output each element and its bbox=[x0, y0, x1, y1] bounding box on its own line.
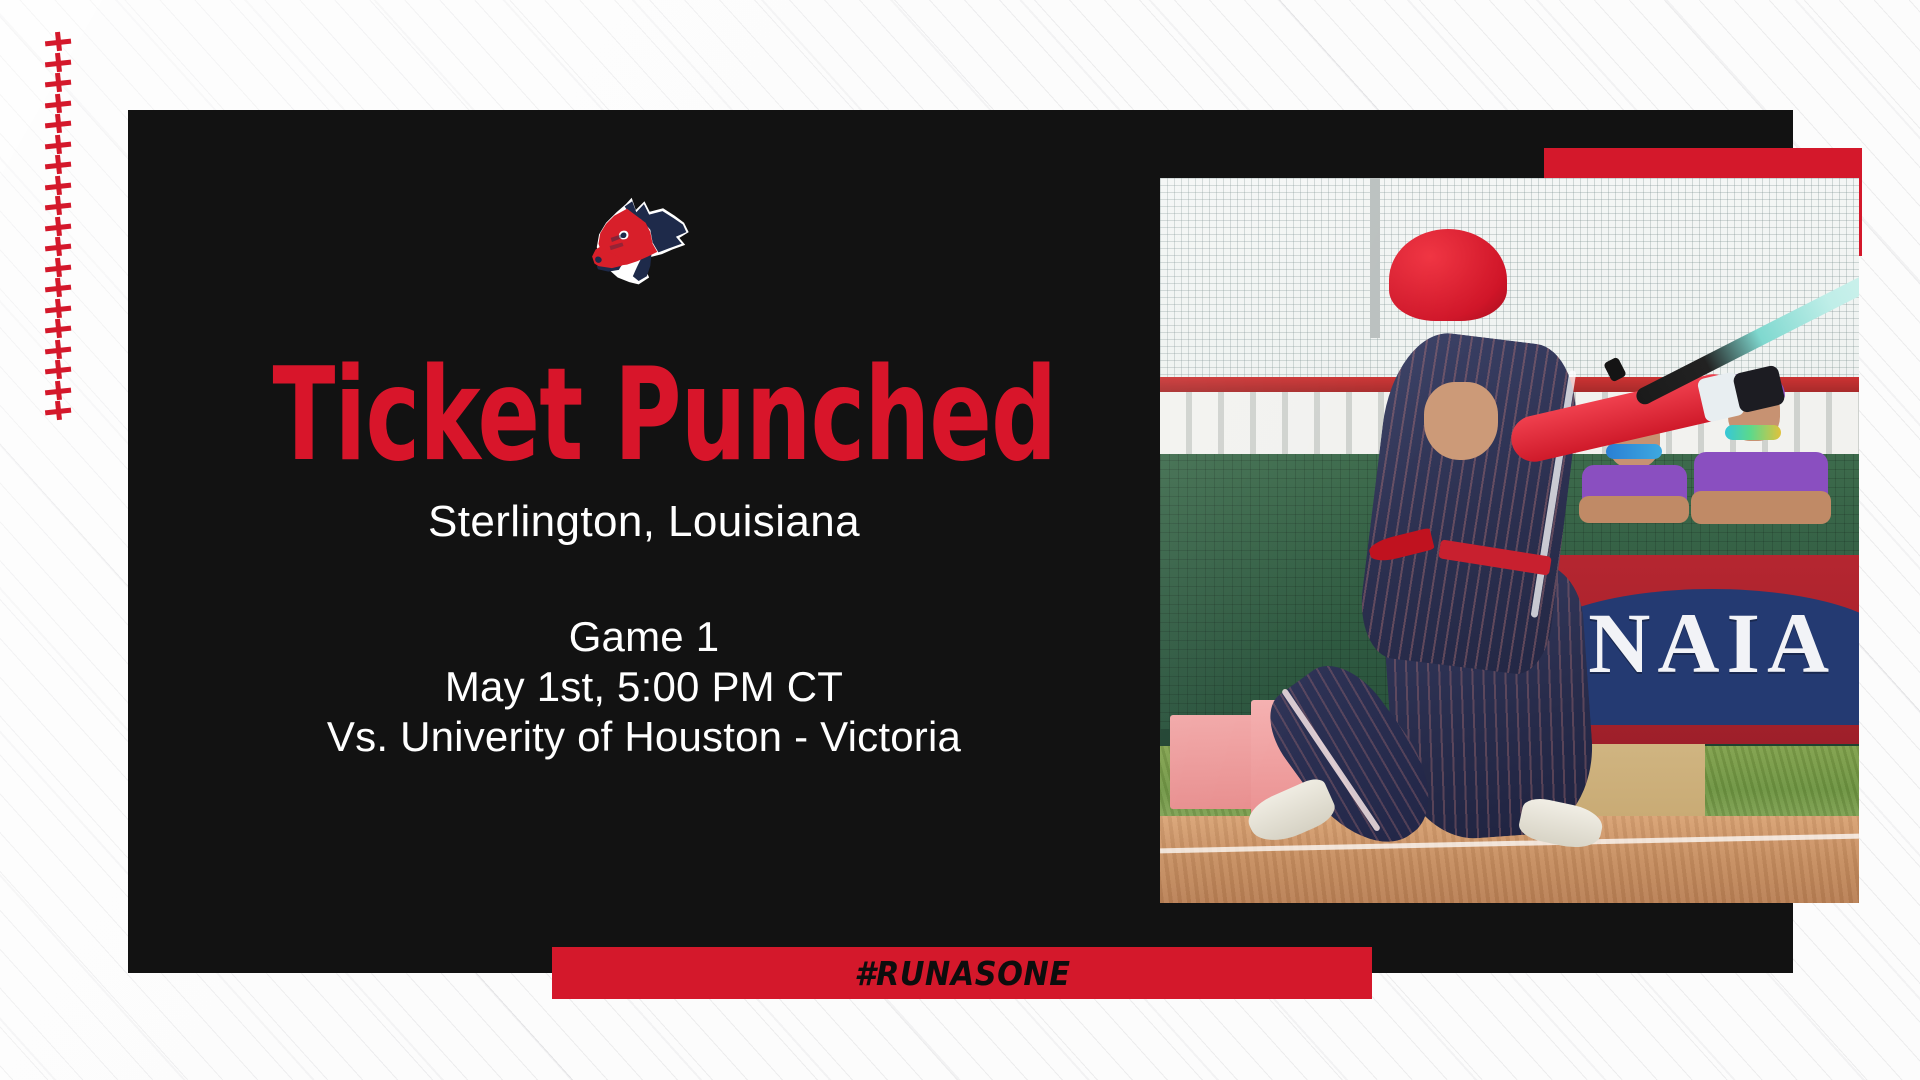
stitch-mark bbox=[44, 281, 71, 295]
stitch-mark bbox=[44, 158, 71, 172]
stitch-mark bbox=[44, 363, 71, 377]
game-detail-line: May 1st, 5:00 PM CT bbox=[128, 662, 1160, 712]
stitch-mark bbox=[44, 301, 71, 315]
game-detail-line: Game 1 bbox=[128, 612, 1160, 662]
baseball-stitch-decoration bbox=[40, 36, 76, 416]
graphic-canvas: NAIA bbox=[0, 0, 1920, 1080]
stitch-mark bbox=[44, 178, 71, 192]
stitch-mark bbox=[44, 322, 71, 336]
game-details: Game 1 May 1st, 5:00 PM CT Vs. Univerity… bbox=[128, 612, 1160, 762]
stitch-mark bbox=[44, 137, 71, 151]
stitch-mark bbox=[44, 342, 71, 356]
photo-sun-glare bbox=[1160, 178, 1859, 903]
stitch-mark bbox=[44, 260, 71, 274]
stitch-mark bbox=[44, 404, 71, 418]
stitch-mark bbox=[44, 55, 71, 69]
baseball-batter-swing-photo: NAIA bbox=[1160, 178, 1859, 903]
stitch-mark bbox=[44, 35, 71, 49]
stitch-mark bbox=[44, 383, 71, 397]
game-detail-line: Vs. Univerity of Houston - Victoria bbox=[128, 712, 1160, 762]
page-title: Ticket Punched bbox=[272, 352, 1015, 480]
stitch-mark bbox=[44, 76, 71, 90]
stitch-mark bbox=[44, 117, 71, 131]
stitch-mark bbox=[44, 240, 71, 254]
location-subtitle: Sterlington, Louisiana bbox=[128, 497, 1160, 547]
mustang-head-logo bbox=[575, 196, 693, 292]
stitch-mark bbox=[44, 199, 71, 213]
hashtag-text: #RUNASONE bbox=[854, 954, 1070, 993]
stitch-mark bbox=[44, 219, 71, 233]
hashtag-banner: #RUNASONE bbox=[552, 947, 1372, 999]
stitch-mark bbox=[44, 96, 71, 110]
